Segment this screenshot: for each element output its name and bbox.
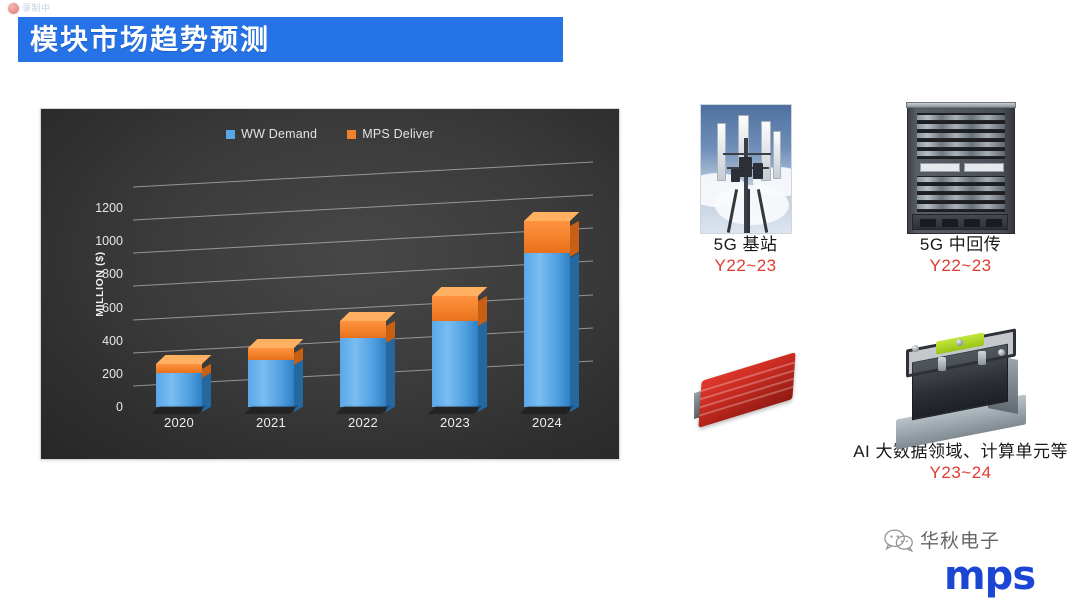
bar-stack-2022 (340, 321, 386, 407)
legend-label-mps-deliver: MPS Deliver (362, 127, 434, 141)
y-axis-tick-label: 600 (102, 301, 123, 315)
legend-swatch-icon (226, 130, 235, 139)
wechat-account-name: 华秋电子 (920, 526, 1000, 553)
x-axis-tick-label: 2022 (336, 415, 390, 430)
bar-segment-mps-deliver (432, 296, 478, 321)
gallery-year: Y23~24 (930, 462, 992, 484)
legend-item-ww-demand: WW Demand (226, 127, 317, 141)
recording-label: 录制中 (22, 3, 51, 14)
bar-shadow (336, 406, 390, 414)
bar-segment-ww-demand (156, 373, 202, 407)
legend-swatch-icon (347, 130, 356, 139)
gallery-caption: 5G 基站 (714, 234, 778, 255)
y-axis-tick-label: 800 (102, 267, 123, 281)
market-trend-chart: WW Demand MPS Deliver MILLION ($) 020040… (40, 108, 620, 460)
gallery-item-5g-base-station: 5G 基站 Y22~23 (648, 92, 843, 315)
y-axis-tick-label: 400 (102, 334, 123, 348)
bar-group (428, 175, 482, 407)
y-axis-tick-label: 1200 (95, 201, 123, 215)
wechat-watermark: 华秋电子 (884, 526, 1000, 553)
bar-shadow (244, 406, 298, 414)
title-banner: 模块市场趋势预测 (18, 17, 563, 62)
bar-shadow (152, 406, 206, 414)
bar-segment-ww-demand (340, 338, 386, 407)
slide-root: 录制中 模块市场趋势预测 WW Demand MPS Deliver MILLI… (0, 0, 1080, 598)
image-frame (688, 321, 804, 441)
bar-group (520, 175, 574, 407)
x-axis-tick-label: 2020 (152, 415, 206, 430)
bar-stack-2024 (524, 221, 570, 407)
bar-segment-ww-demand (432, 321, 478, 407)
chart-legend: WW Demand MPS Deliver (41, 127, 619, 141)
bar-stack-2021 (248, 348, 294, 407)
bar-shadow (428, 406, 482, 414)
y-axis-tick-label: 0 (116, 400, 123, 414)
image-frame (907, 92, 1015, 234)
image-frame (886, 321, 1036, 441)
legend-label-ww-demand: WW Demand (241, 127, 317, 141)
x-axis-tick-label: 2021 (244, 415, 298, 430)
gallery-item-compute-module: AI 大数据领域、计算单元等 Y23~24 (853, 321, 1068, 522)
chart-bars (133, 175, 593, 407)
record-dot-icon (8, 3, 19, 14)
gallery-caption: AI 大数据领域、计算单元等 (853, 441, 1068, 462)
bar-stack-2020 (156, 364, 202, 407)
gallery-year: Y22~23 (715, 255, 777, 277)
bar-segment-mps-deliver (524, 221, 570, 252)
gallery-caption: 5G 中回传 (920, 234, 1001, 255)
5g-tower-photo (700, 104, 792, 234)
product-gallery: 5G 基站 Y22~23 (648, 92, 1068, 522)
bar-group (152, 175, 206, 407)
x-axis-labels: 20202021202220232024 (133, 415, 593, 430)
image-frame (700, 92, 792, 234)
bar-segment-mps-deliver (248, 348, 294, 360)
legend-item-mps-deliver: MPS Deliver (347, 127, 434, 141)
mps-logo: mps (944, 556, 1035, 596)
bar-group (244, 175, 298, 407)
network-switch-chassis-photo (907, 106, 1015, 234)
x-axis-tick-label: 2023 (428, 415, 482, 430)
bar-segment-ww-demand (248, 360, 294, 407)
x-axis-tick-label: 2024 (520, 415, 574, 430)
recording-indicator: 录制中 (8, 3, 51, 14)
bar-group (336, 175, 390, 407)
page-title: 模块市场趋势预测 (18, 26, 270, 54)
y-axis-tick-label: 200 (102, 367, 123, 381)
gallery-year: Y22~23 (930, 255, 992, 277)
bar-segment-mps-deliver (340, 321, 386, 338)
bar-segment-mps-deliver (156, 364, 202, 373)
bar-stack-2023 (432, 296, 478, 407)
red-accelerator-card-photo (688, 341, 804, 441)
heatsink-power-module-photo (886, 323, 1036, 441)
bar-shadow (520, 406, 574, 414)
gallery-item-ai-accelerator (648, 321, 843, 522)
bar-segment-ww-demand (524, 253, 570, 407)
gallery-item-5g-midhaul: 5G 中回传 Y22~23 (853, 92, 1068, 315)
y-axis-tick-label: 1000 (95, 234, 123, 248)
wechat-icon (884, 528, 914, 552)
chart-plot-area: 020040060080010001200 (133, 175, 593, 407)
